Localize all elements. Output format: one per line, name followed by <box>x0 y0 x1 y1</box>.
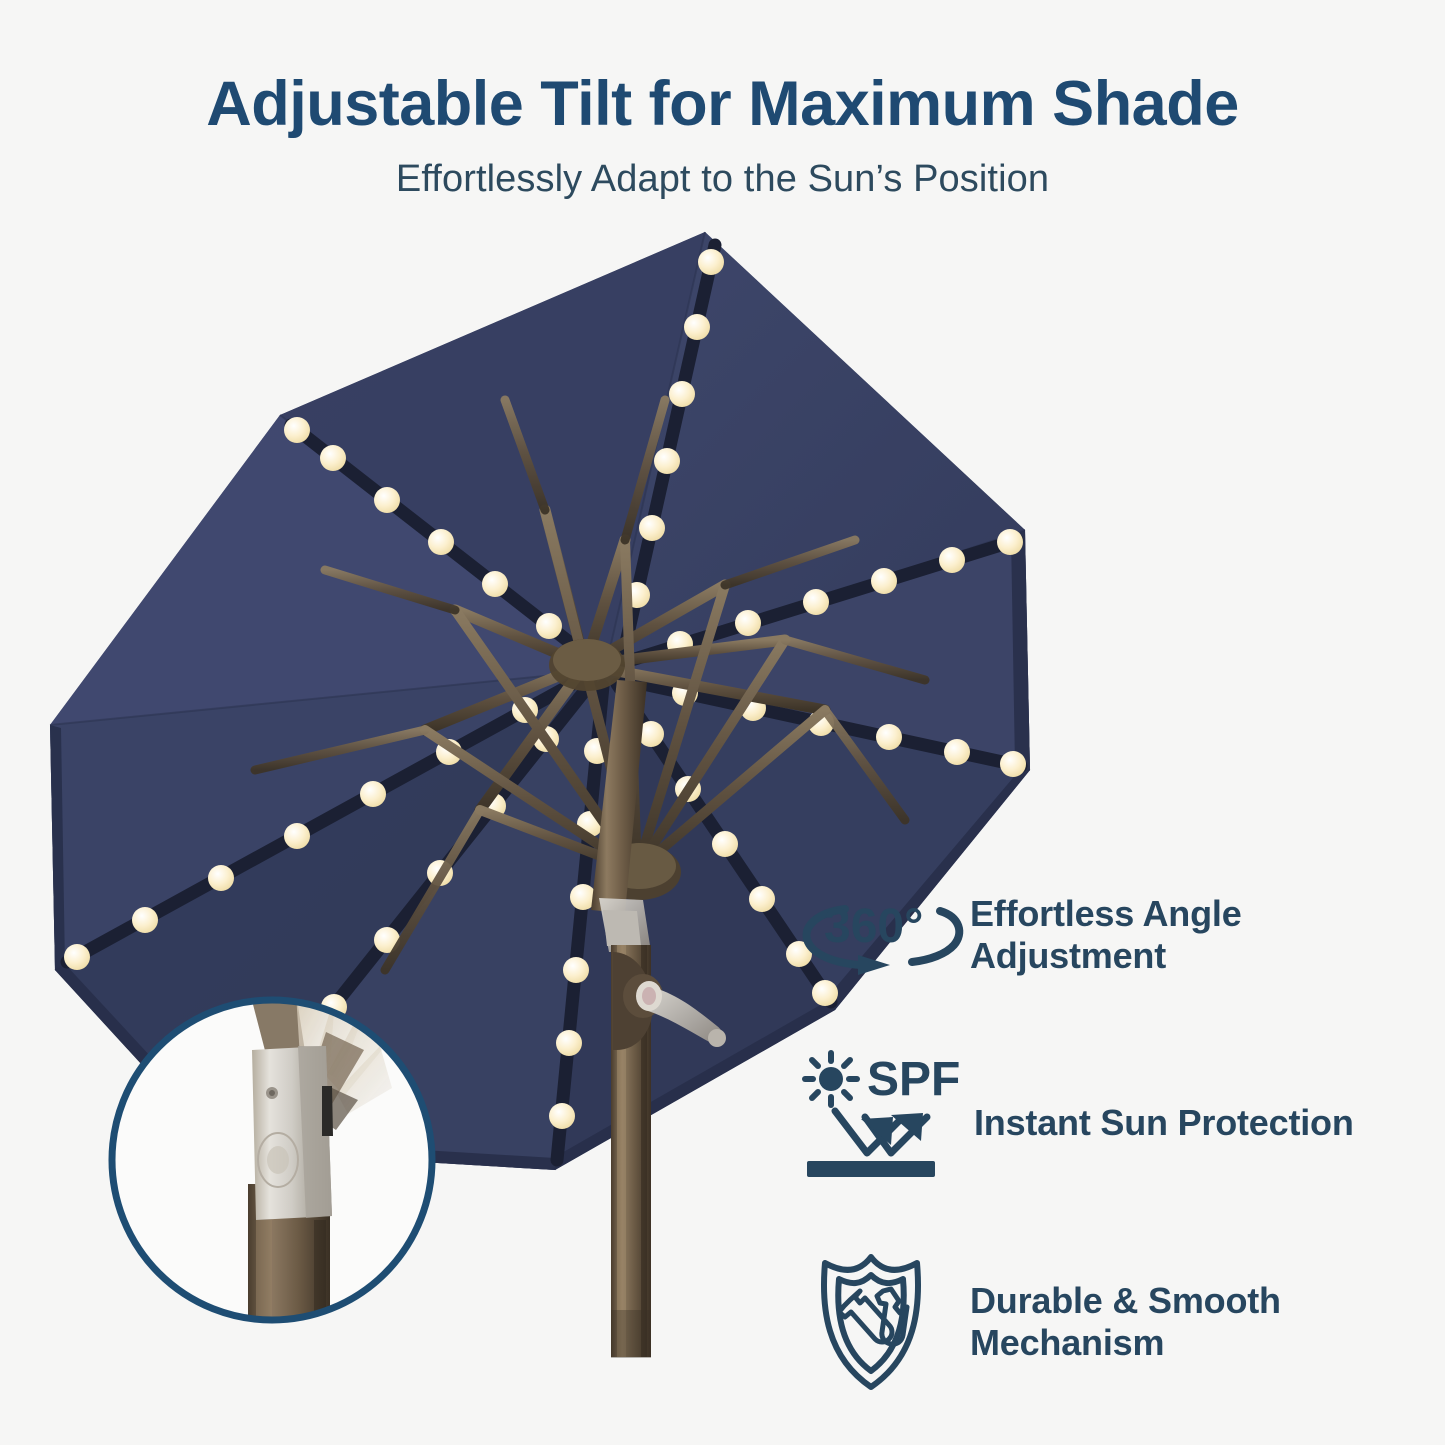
feature-label-line1: Instant Sun Protection <box>974 1102 1354 1144</box>
sun-icon <box>805 1053 857 1105</box>
feature-item-sun-protection: SPF Instant Sun Protection <box>795 1036 1435 1211</box>
feature-list: 360° Effortless Angle Adjustment <box>795 860 1435 1433</box>
spf-icon-label: SPF <box>867 1053 960 1106</box>
feature-label-angle-adjustment: Effortless Angle Adjustment <box>970 893 1242 978</box>
feature-label-line2: Adjustment <box>970 935 1242 977</box>
feature-label-line1: Effortless Angle <box>970 893 1242 935</box>
feature-item-durability: Durable & Smooth Mechanism <box>795 1237 1435 1407</box>
spf-sun-protection-icon: SPF <box>795 1049 970 1199</box>
page-title: Adjustable Tilt for Maximum Shade <box>0 0 1445 138</box>
header: Adjustable Tilt for Maximum Shade Effort… <box>0 0 1445 201</box>
feature-label-durability: Durable & Smooth Mechanism <box>970 1280 1281 1365</box>
feature-label-line2: Mechanism <box>970 1322 1281 1364</box>
feature-label-sun-protection: Instant Sun Protection <box>974 1102 1354 1144</box>
inset-photo <box>100 988 445 1333</box>
shield-wrench-durability-icon <box>795 1247 970 1397</box>
infographic-stage: Adjustable Tilt for Maximum Shade Effort… <box>0 0 1445 1445</box>
protection-surface-bar <box>807 1161 935 1177</box>
360-degree-rotation-icon: 360° <box>795 885 970 985</box>
umbrella-upper-hub <box>549 639 625 691</box>
360-icon-label: 360° <box>824 900 923 953</box>
page-subtitle: Effortlessly Adapt to the Sun’s Position <box>0 138 1445 201</box>
feature-label-line1: Durable & Smooth <box>970 1280 1281 1322</box>
feature-item-angle-adjustment: 360° Effortless Angle Adjustment <box>795 860 1435 1010</box>
tilt-mechanism-inset <box>100 988 445 1333</box>
chrome-tilt-collar <box>252 1046 333 1220</box>
